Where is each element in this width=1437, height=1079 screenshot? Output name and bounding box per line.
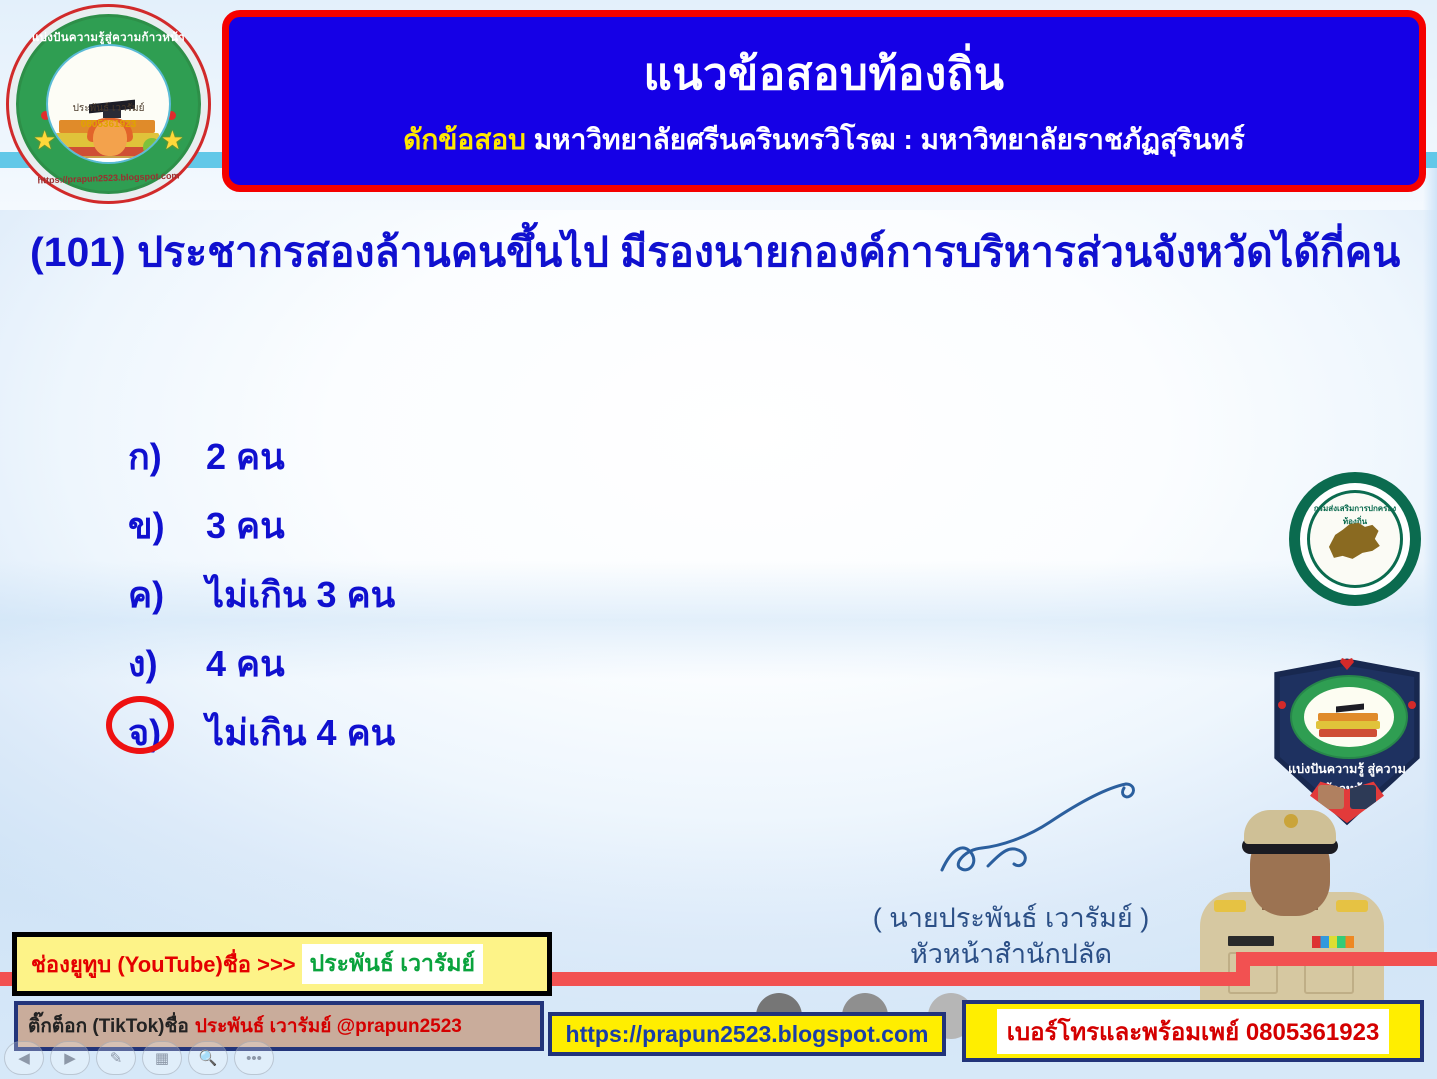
header-subtitle: ดักข้อสอบ มหาวิทยาลัยศรีนครินทรวิโรฒ : ม… — [403, 123, 1245, 157]
tiktok-label: ติ๊กต็อก (TikTok)ชื่อ — [28, 1011, 189, 1041]
choice-key-3: ค) — [128, 566, 200, 623]
slideshow-toolbar[interactable]: ◀ ▶ ✎ ▦ 🔍 ••• — [4, 1038, 294, 1078]
correct-answer-circle — [106, 696, 174, 754]
shield-book-3 — [1319, 729, 1377, 737]
header-subtitle-highlight: ดักข้อสอบ — [403, 124, 526, 155]
header-banner: แนวข้อสอบท้องถิ่น ดักข้อสอบ มหาวิทยาลัยศ… — [222, 10, 1426, 192]
dla-seal-inner: กรมส่งเสริมการปกครองท้องถิ่น — [1307, 490, 1403, 588]
shield-graduation-cap-icon — [1336, 704, 1364, 713]
shield-book-1 — [1318, 713, 1378, 721]
blog-url-box[interactable]: https://prapun2523.blogspot.com — [548, 1012, 946, 1056]
signature-role: หัวหน้าสำนักปลัด — [846, 932, 1176, 975]
brand-logo: แบ่งปันความรู้สู่ความก้าวหน้า ★ ★ https:… — [6, 4, 211, 204]
officer-ribbon-bar — [1312, 936, 1354, 948]
right-edge-gradient — [1423, 168, 1437, 948]
slide-grid-icon[interactable]: ▦ — [142, 1041, 182, 1075]
header-subtitle-rest: มหาวิทยาลัยศรีนครินทรวิโรฒ : มหาวิทยาลัย… — [534, 124, 1245, 155]
more-options-icon[interactable]: ••• — [234, 1041, 274, 1075]
officer-epaulette-right — [1336, 900, 1368, 912]
choice-text-1: 2 คน — [200, 428, 285, 485]
officer-cap-badge-icon — [1284, 814, 1298, 828]
question-text: (101) ประชากรสองล้านคนขึ้นไป มีรองนายกอง… — [30, 222, 1420, 283]
youtube-channel-name: ประพันธ์ เวารัมย์ — [302, 944, 483, 984]
previous-slide-icon[interactable]: ◀ — [4, 1041, 44, 1075]
choice-row-1[interactable]: ก) 2 คน — [128, 425, 1028, 488]
youtube-info-box[interactable]: ช่องยูทูบ (YouTube)ชื่อ >>> ประพันธ์ เวา… — [12, 932, 552, 996]
handwritten-signature — [930, 778, 1150, 888]
pen-icon[interactable]: ✎ — [96, 1041, 136, 1075]
dla-seal-logo: DEPARTMENT OF LOCAL ADMINISTRATION กรมส่… — [1289, 472, 1421, 606]
logo-inner-disc: ประพันธ์ เวารัมย์ 0805361923 — [46, 44, 171, 164]
shield-books-icon — [1316, 703, 1382, 743]
officer-epaulette-left — [1214, 900, 1246, 912]
apple-icon — [143, 138, 161, 156]
choice-row-3[interactable]: ค) ไม่เกิน 3 คน — [128, 563, 1028, 626]
shield-book-2 — [1316, 721, 1380, 729]
choice-key-4: ง) — [128, 635, 200, 692]
slide-canvas: แบ่งปันความรู้สู่ความก้าวหน้า ★ ★ https:… — [0, 0, 1437, 1079]
logo-owner-name: ประพันธ์ เวารัมย์ — [48, 101, 169, 116]
shield-emblem-circle — [1290, 675, 1408, 759]
telephone-info-box[interactable]: เบอร์โทรและพร้อมเพย์ 0805361923 — [962, 1000, 1424, 1062]
next-slide-icon[interactable]: ▶ — [50, 1041, 90, 1075]
shield-dot-left — [1278, 701, 1286, 709]
zoom-icon[interactable]: 🔍 — [188, 1041, 228, 1075]
choice-key-1: ก) — [128, 428, 200, 485]
choice-row-5[interactable]: จ) ไม่เกิน 4 คน — [128, 701, 1028, 764]
logo-phone: 0805361923 — [48, 119, 169, 130]
telephone-inner: เบอร์โทรและพร้อมเพย์ 0805361923 — [997, 1009, 1390, 1054]
choice-text-4: 4 คน — [200, 635, 285, 692]
officer-name-tag — [1228, 936, 1274, 946]
youtube-label: ช่องยูทูบ (YouTube)ชื่อ >>> — [31, 947, 296, 982]
choice-text-5: ไม่เกิน 4 คน — [200, 704, 395, 761]
choice-key-2: ข) — [128, 497, 200, 554]
choice-key-5: จ) — [128, 704, 200, 761]
blog-url-text: https://prapun2523.blogspot.com — [566, 1021, 929, 1048]
choice-text-3: ไม่เกิน 3 คน — [200, 566, 395, 623]
choice-row-4[interactable]: ง) 4 คน — [128, 632, 1028, 695]
telephone-text: เบอร์โทรและพร้อมเพย์ 0805361923 — [1007, 1019, 1380, 1046]
officer-pocket-right — [1304, 952, 1354, 994]
choice-text-2: 3 คน — [200, 497, 285, 554]
shield-dot-right — [1408, 701, 1416, 709]
officer-pocket-left — [1228, 952, 1278, 994]
header-title: แนวข้อสอบท้องถิ่น — [644, 50, 1005, 101]
answer-choices-list: ก) 2 คน ข) 3 คน ค) ไม่เกิน 3 คน ง) 4 คน … — [128, 425, 1028, 770]
tiktok-account-name: ประพันธ์ เวารัมย์ @prapun2523 — [195, 1011, 462, 1041]
choice-row-2[interactable]: ข) 3 คน — [128, 494, 1028, 557]
